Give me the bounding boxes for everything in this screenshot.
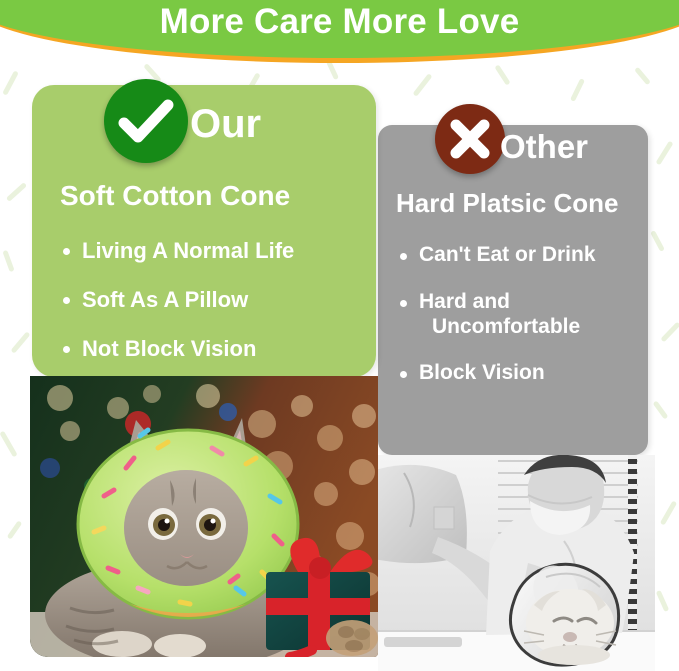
x-circle-icon (435, 104, 505, 174)
other-drawback-list: Can't Eat or Drink Hard and Uncomfortabl… (400, 243, 648, 408)
list-item: Soft As A Pillow (63, 287, 363, 313)
header-banner: More Care More Love (0, 0, 679, 63)
list-item: Can't Eat or Drink (400, 243, 648, 268)
other-label: Other (500, 128, 588, 166)
product-comparison-infographic: More Care More Love Our Soft Cotton Cone… (0, 0, 679, 671)
our-benefit-list: Living A Normal Life Soft As A Pillow No… (63, 238, 363, 385)
list-item: Living A Normal Life (63, 238, 363, 264)
our-product-photo (30, 376, 378, 657)
list-item: Block Vision (400, 361, 648, 386)
page-title: More Care More Love (0, 2, 679, 42)
list-item: Not Block Vision (63, 336, 363, 362)
our-label: Our (190, 102, 261, 147)
list-item: Hard and Uncomfortable (400, 290, 648, 340)
other-product-photo (378, 455, 655, 671)
check-circle-icon (104, 79, 188, 163)
other-subtitle: Hard Platsic Cone (396, 188, 619, 219)
our-subtitle: Soft Cotton Cone (60, 180, 290, 212)
